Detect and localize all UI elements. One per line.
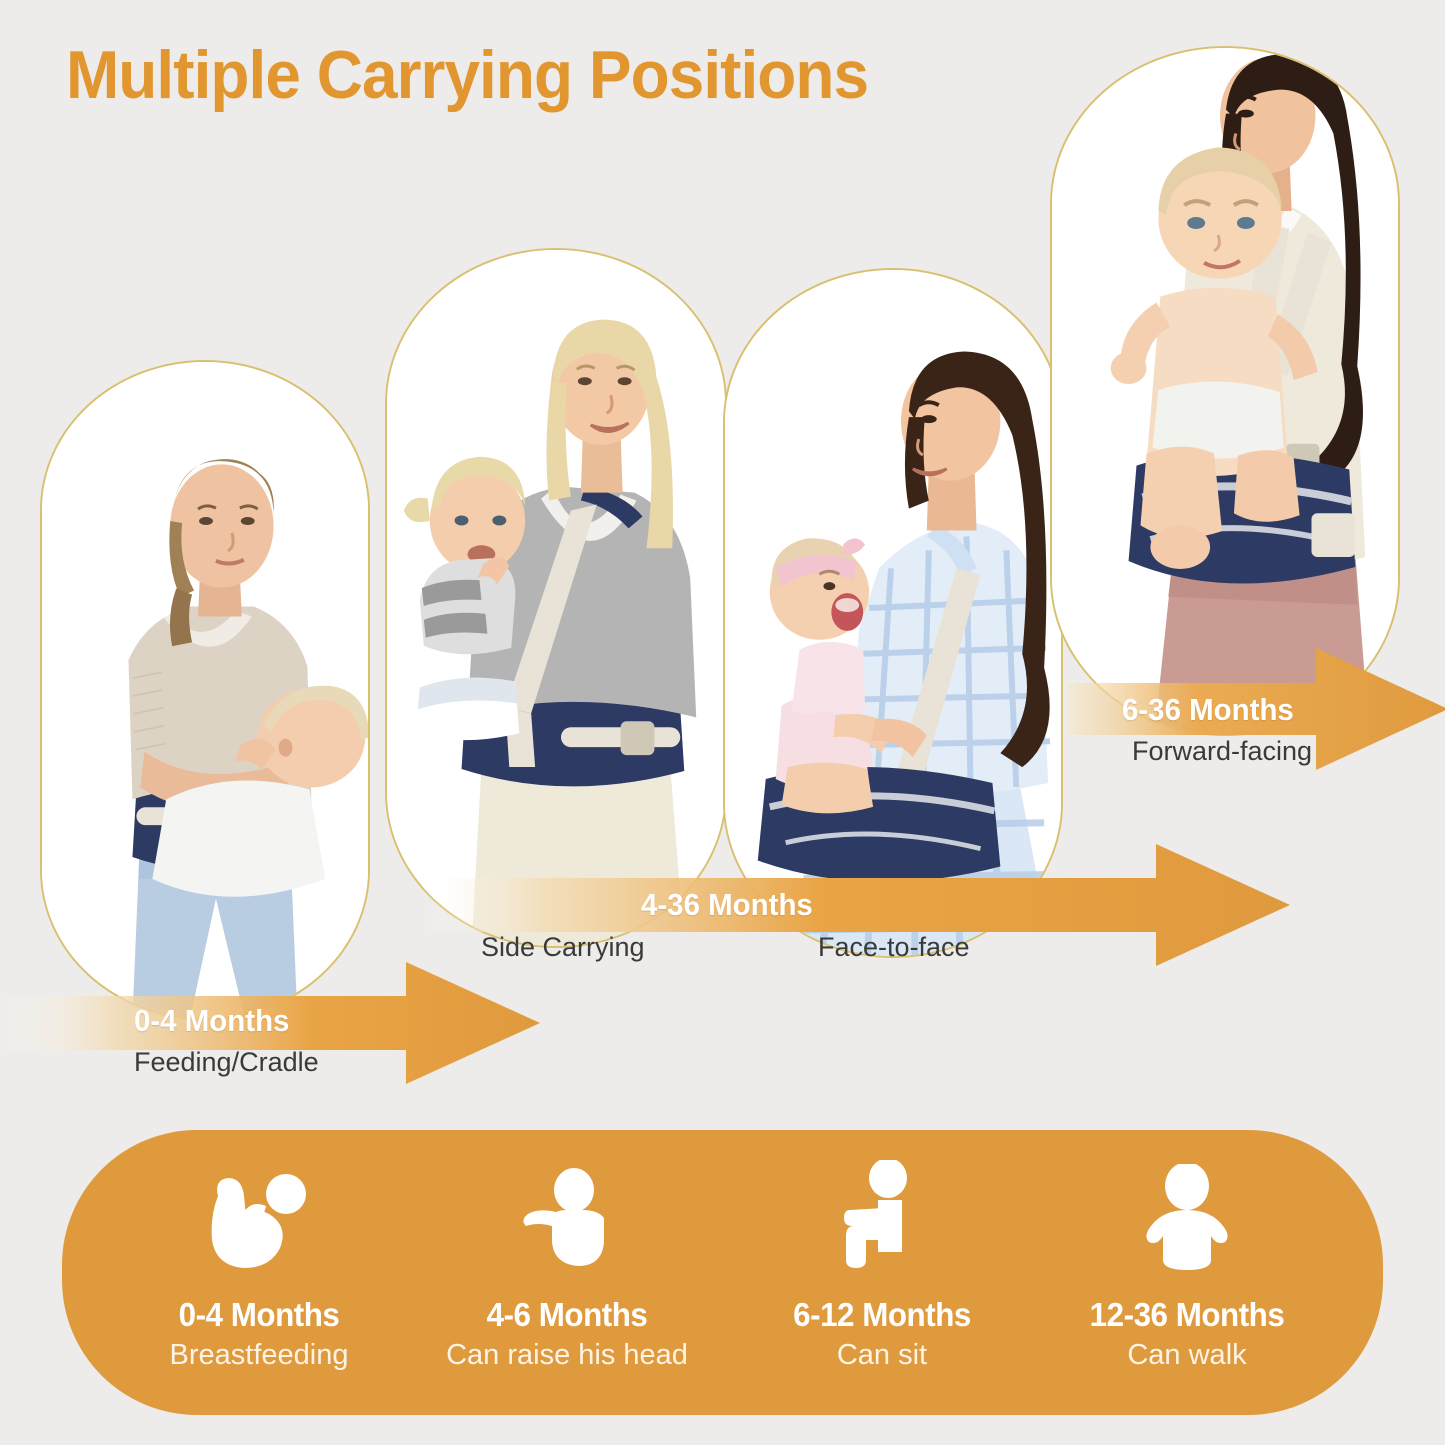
arrow-label-4-36-months: 4-36 Months xyxy=(641,887,813,923)
milestone-age: 0-4 Months xyxy=(102,1296,416,1334)
milestone-desc: Breastfeeding xyxy=(94,1339,424,1372)
milestone-desc: Can raise his head xyxy=(402,1339,732,1372)
milestone-age: 12-36 Months xyxy=(1030,1296,1344,1334)
photo-forward-facing xyxy=(1052,48,1398,734)
milestone-breastfeeding: 0-4 Months Breastfeeding xyxy=(94,1130,424,1415)
milestone-can-walk: 12-36 Months Can walk xyxy=(1022,1130,1352,1415)
arrow-label-0-4-months: 0-4 Months xyxy=(134,1003,289,1039)
milestone-desc: Can walk xyxy=(1022,1339,1352,1372)
arrow-sub-face-to-face: Face-to-face xyxy=(818,932,970,963)
milestone-age: 4-6 Months xyxy=(410,1296,724,1334)
baby-lying-icon xyxy=(94,1160,424,1272)
photo-capsule-feeding-cradle xyxy=(40,360,370,1020)
arrow-label-6-36-months: 6-36 Months xyxy=(1122,692,1294,728)
photo-capsule-forward-facing xyxy=(1050,46,1400,736)
arrow-sub-side-carrying: Side Carrying xyxy=(481,932,645,963)
milestone-can-sit: 6-12 Months Can sit xyxy=(717,1130,1047,1415)
baby-standing-icon xyxy=(1022,1160,1352,1272)
infographic-root: Multiple Carrying Positions xyxy=(0,0,1445,1445)
arrow-sub-forward-facing: Forward-facing xyxy=(1132,736,1312,767)
page-title: Multiple Carrying Positions xyxy=(66,36,868,114)
milestone-desc: Can sit xyxy=(717,1339,1047,1372)
photo-feeding-cradle xyxy=(42,362,368,1018)
arrow-sub-feeding-cradle: Feeding/Cradle xyxy=(134,1047,319,1078)
milestone-age: 6-12 Months xyxy=(725,1296,1039,1334)
baby-sitting-icon xyxy=(717,1160,1047,1272)
baby-raise-head-icon xyxy=(402,1160,732,1272)
milestones-panel: 0-4 Months Breastfeeding 4-6 Months Can … xyxy=(62,1130,1383,1415)
milestone-can-raise-head: 4-6 Months Can raise his head xyxy=(402,1130,732,1415)
